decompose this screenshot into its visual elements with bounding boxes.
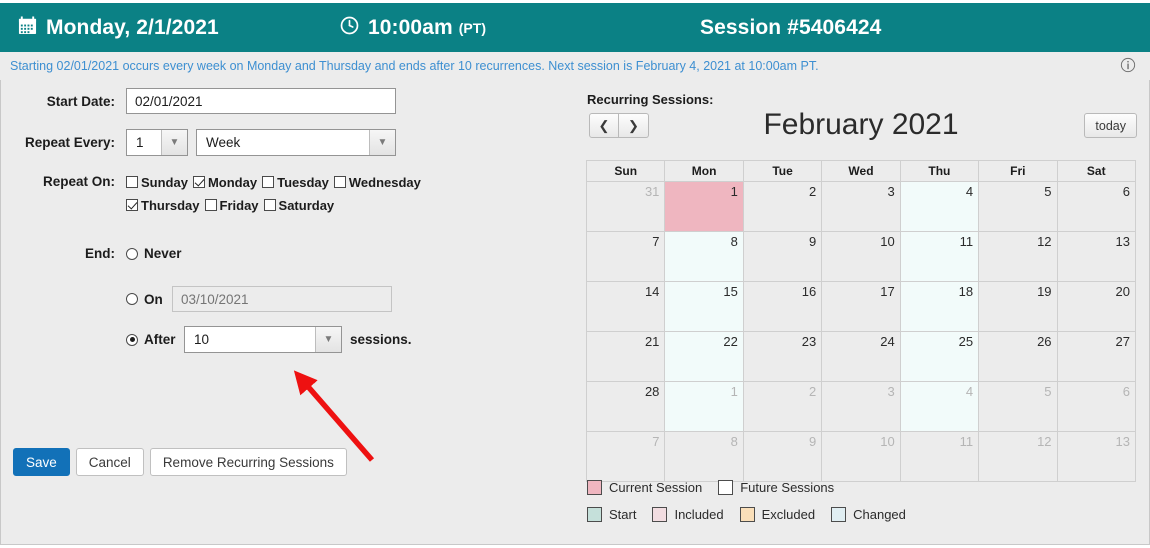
weekday-header-thu: Thu [900,161,978,182]
session-date-text: Monday, 2/1/2021 [46,16,219,40]
calendar-day-cell[interactable]: 7 [587,432,665,482]
calendar-day-cell[interactable]: 12 [979,232,1057,282]
legend-label: Future Sessions [740,480,834,495]
repeat-interval-value: 1 [127,135,144,150]
calendar-day-cell[interactable]: 25 [900,332,978,382]
calendar-day-cell[interactable]: 3 [822,382,900,432]
calendar-day-cell[interactable]: 13 [1057,432,1135,482]
legend-row-primary: Current Session Future Sessions [587,480,1147,495]
chevron-down-icon: ▼ [369,130,395,155]
chevron-down-icon: ▼ [161,130,187,155]
start-date-label: Start Date: [1,94,115,109]
remove-recurring-sessions-button[interactable]: Remove Recurring Sessions [150,448,347,476]
legend-swatch-future [718,480,733,495]
repeat-on-day-group-1: Sunday Monday Tuesday Wednesday [126,171,426,193]
calendar-day-cell[interactable]: 10 [822,432,900,482]
calendar-day-cell[interactable]: 4 [900,182,978,232]
calendar-day-cell[interactable]: 3 [822,182,900,232]
end-after-radio[interactable]: After [126,332,184,347]
day-checkbox-thursday[interactable]: Thursday [126,198,200,213]
legend-row-secondary: Start Included Excluded Changed [587,507,1147,522]
checkbox-box [334,176,346,188]
weekday-header-wed: Wed [822,161,900,182]
legend-label: Included [674,507,723,522]
calendar-week-row: 21222324252627 [587,332,1136,382]
checkbox-box [126,176,138,188]
calendar-day-cell[interactable]: 14 [587,282,665,332]
session-id-text: Session #5406424 [700,16,881,40]
legend-item-included: Included [652,507,723,522]
legend-swatch-excluded [740,507,755,522]
weekday-header-fri: Fri [979,161,1057,182]
calendar-day-cell[interactable]: 11 [900,232,978,282]
calendar-day-cell[interactable]: 5 [979,382,1057,432]
today-button[interactable]: today [1084,113,1137,138]
calendar-grid: Sun Mon Tue Wed Thu Fri Sat 311234567891… [586,160,1136,482]
day-checkbox-saturday[interactable]: Saturday [264,198,335,213]
legend-label: Start [609,507,636,522]
save-button[interactable]: Save [13,448,70,476]
legend-item-start: Start [587,507,636,522]
clock-icon [340,16,359,39]
calendar-week-row: 14151617181920 [587,282,1136,332]
recurrence-form-panel: Start Date: Repeat Every: 1 ▼ Week ▼ Rep… [1,80,571,545]
end-never-label: Never [144,246,182,261]
calendar-legend: Current Session Future Sessions Start In… [587,480,1147,534]
calendar-body: 3112345678910111213141516171819202122232… [587,182,1136,482]
calendar-day-cell[interactable]: 1 [665,382,743,432]
start-date-row: Start Date: [1,88,401,114]
end-on-radio[interactable]: On [126,292,172,307]
day-checkbox-tuesday[interactable]: Tuesday [262,175,329,190]
calendar-day-cell[interactable]: 2 [743,382,821,432]
calendar-day-cell[interactable]: 9 [743,232,821,282]
day-label: Saturday [279,198,335,213]
calendar-day-cell[interactable]: 27 [1057,332,1135,382]
legend-item-current-session: Current Session [587,480,702,495]
calendar-day-cell[interactable]: 12 [979,432,1057,482]
end-after-label: After [144,332,176,347]
calendar-day-cell[interactable]: 7 [587,232,665,282]
header-session-group: Session #5406424 [700,16,881,40]
calendar-day-cell[interactable]: 16 [743,282,821,332]
calendar-week-row: 78910111213 [587,232,1136,282]
legend-swatch-changed [831,507,846,522]
calendar-day-cell[interactable]: 11 [900,432,978,482]
legend-label: Excluded [762,507,815,522]
session-time-text: 10:00am [368,16,453,40]
legend-label: Current Session [609,480,702,495]
calendar-day-cell[interactable]: 19 [979,282,1057,332]
end-never-radio[interactable]: Never [126,246,182,261]
calendar-day-cell[interactable]: 23 [743,332,821,382]
calendar-day-cell[interactable]: 9 [743,432,821,482]
end-after-row: After 10 ▼ sessions. [1,326,461,353]
end-after-count-select[interactable]: 10 ▼ [184,326,342,353]
legend-item-changed: Changed [831,507,906,522]
form-action-buttons: Save Cancel Remove Recurring Sessions [13,448,347,476]
calendar-day-cell[interactable]: 1 [665,182,743,232]
calendar-day-cell[interactable]: 4 [900,382,978,432]
calendar-day-cell[interactable]: 21 [587,332,665,382]
legend-item-future-sessions: Future Sessions [718,480,834,495]
weekday-header-mon: Mon [665,161,743,182]
sessions-suffix-label: sessions. [350,332,412,347]
repeat-every-label: Repeat Every: [1,135,115,150]
legend-swatch-current [587,480,602,495]
day-label: Sunday [141,175,188,190]
calendar-day-cell[interactable]: 24 [822,332,900,382]
legend-label: Changed [853,507,906,522]
calendar-day-cell[interactable]: 6 [1057,182,1135,232]
calendar-day-cell[interactable]: 17 [822,282,900,332]
chevron-down-icon: ▼ [315,327,341,352]
day-label: Monday [208,175,257,190]
day-label: Thursday [141,198,200,213]
weekday-header-sun: Sun [587,161,665,182]
weekday-header-sat: Sat [1057,161,1135,182]
checkbox-box [205,199,217,211]
checkbox-box [264,199,276,211]
header-time-group: 10:00am (PT) [340,16,486,40]
day-label: Friday [220,198,259,213]
weekday-header-tue: Tue [743,161,821,182]
calendar-day-cell[interactable]: 18 [900,282,978,332]
checkbox-box [262,176,274,188]
recurring-sessions-calendar-panel: Recurring Sessions: ❮ ❯ February 2021 to… [571,80,1150,545]
calendar-day-cell[interactable]: 8 [665,432,743,482]
legend-item-excluded: Excluded [740,507,815,522]
calendar-day-cell[interactable]: 26 [979,332,1057,382]
calendar-icon [18,16,37,39]
start-date-input[interactable] [126,88,396,114]
session-timezone-text: (PT) [459,20,486,36]
repeat-on-day-group-2: Thursday Friday Saturday [126,193,426,217]
calendar-day-cell[interactable]: 28 [587,382,665,432]
legend-swatch-start [587,507,602,522]
header-date-group: Monday, 2/1/2021 [18,16,219,40]
calendar-day-cell[interactable]: 13 [1057,232,1135,282]
calendar-day-cell[interactable]: 8 [665,232,743,282]
recurring-sessions-label: Recurring Sessions: [587,92,713,107]
info-circle-icon[interactable] [1120,57,1136,76]
radio-box [126,248,138,260]
day-label: Wednesday [349,175,421,190]
calendar-day-cell[interactable]: 5 [979,182,1057,232]
calendar-day-cell[interactable]: 15 [665,282,743,332]
end-on-date-input[interactable] [172,286,392,312]
repeat-on-label: Repeat On: [1,171,115,193]
recurrence-summary-text: Starting 02/01/2021 occurs every week on… [10,59,819,73]
day-label: Tuesday [277,175,329,190]
calendar-day-cell[interactable]: 2 [743,182,821,232]
radio-box [126,293,138,305]
repeat-interval-select[interactable]: 1 ▼ [126,129,188,156]
day-checkbox-friday[interactable]: Friday [205,198,259,213]
checkbox-box-checked [126,199,138,211]
calendar-day-cell[interactable]: 31 [587,182,665,232]
recurrence-info-banner: Starting 02/01/2021 occurs every week on… [0,52,1150,81]
calendar-day-cell[interactable]: 20 [1057,282,1135,332]
day-checkbox-monday[interactable]: Monday [193,175,257,190]
calendar-week-row: 31123456 [587,182,1136,232]
radio-box-checked [126,334,138,346]
repeat-every-row: Repeat Every: 1 ▼ Week ▼ [1,129,421,156]
end-after-count-value: 10 [185,332,209,347]
end-on-label: On [144,292,163,307]
calendar-week-row: 28123456 [587,382,1136,432]
recurrence-editor-body: Start Date: Repeat Every: 1 ▼ Week ▼ Rep… [0,80,1150,545]
calendar-day-cell[interactable]: 22 [665,332,743,382]
session-header-bar: Monday, 2/1/2021 10:00am (PT) Session #5… [0,3,1150,52]
repeat-unit-value: Week [197,135,240,150]
end-label: End: [1,246,115,261]
day-checkbox-sunday[interactable]: Sunday [126,175,188,190]
legend-swatch-included [652,507,667,522]
day-checkbox-wednesday[interactable]: Wednesday [334,175,421,190]
calendar-day-cell[interactable]: 10 [822,232,900,282]
cancel-button[interactable]: Cancel [76,448,144,476]
calendar-weekday-header: Sun Mon Tue Wed Thu Fri Sat [587,161,1136,182]
calendar-month-title: February 2021 [571,108,1150,142]
checkbox-box-checked [193,176,205,188]
end-never-row: End: Never [1,246,421,261]
repeat-on-row: Repeat On: Sunday Monday Tuesday [1,171,426,217]
end-on-row: On [1,286,421,312]
calendar-day-cell[interactable]: 6 [1057,382,1135,432]
repeat-unit-select[interactable]: Week ▼ [196,129,396,156]
calendar-week-row: 78910111213 [587,432,1136,482]
